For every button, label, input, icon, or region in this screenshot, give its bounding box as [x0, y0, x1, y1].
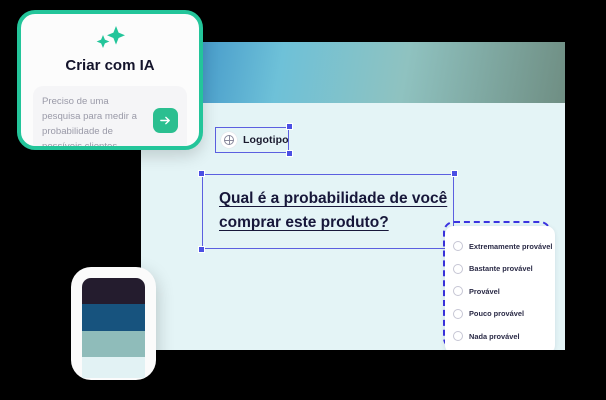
- color-swatch[interactable]: [82, 331, 145, 357]
- ai-prompt-input[interactable]: Preciso de uma pesquisa para medir a pro…: [33, 86, 187, 146]
- resize-handle-bottom-left[interactable]: [198, 246, 205, 253]
- ai-send-button[interactable]: [153, 108, 178, 133]
- resize-handle-top-right[interactable]: [286, 123, 293, 130]
- radio-icon[interactable]: [453, 241, 463, 251]
- resize-handle-top-right[interactable]: [451, 170, 458, 177]
- color-palette-card[interactable]: [71, 267, 156, 380]
- radio-icon[interactable]: [453, 331, 463, 341]
- resize-handle-bottom-right[interactable]: [286, 150, 293, 157]
- question-block[interactable]: Qual é a probabilidade de você comprar e…: [202, 174, 454, 249]
- arrow-right-icon: [159, 114, 172, 127]
- create-with-ai-card: Criar com IA Preciso de uma pesquisa par…: [17, 10, 203, 150]
- list-item[interactable]: Pouco provável: [453, 303, 547, 326]
- radio-icon[interactable]: [453, 264, 463, 274]
- color-swatch[interactable]: [82, 357, 145, 378]
- logo-label: Logotipo: [243, 134, 289, 146]
- logo-placeholder[interactable]: Logotipo: [215, 127, 289, 153]
- ai-prompt-value: Preciso de uma pesquisa para medir a pro…: [42, 94, 147, 146]
- sparkle-icon: [93, 26, 127, 52]
- ai-card-title: Criar com IA: [21, 57, 199, 74]
- option-label: Provável: [469, 287, 500, 296]
- list-item[interactable]: Provável: [453, 280, 547, 303]
- option-label: Extremamente provável: [469, 242, 552, 251]
- radio-icon[interactable]: [453, 309, 463, 319]
- palette-strip: [82, 278, 145, 378]
- add-image-icon: [221, 132, 237, 148]
- question-text: Qual é a probabilidade de você comprar e…: [219, 187, 451, 235]
- list-item[interactable]: Nada provável: [453, 325, 547, 348]
- screenshot-stage: Logotipo Qual é a probabilidade de você …: [0, 0, 606, 400]
- options-list[interactable]: Extremamente provável Bastante provável …: [445, 226, 555, 350]
- list-item[interactable]: Extremamente provável: [453, 235, 547, 258]
- radio-icon[interactable]: [453, 286, 463, 296]
- list-item[interactable]: Bastante provável: [453, 258, 547, 281]
- color-swatch[interactable]: [82, 304, 145, 331]
- option-label: Bastante provável: [469, 264, 533, 273]
- banner-gradient: [141, 42, 565, 103]
- logo-selection-box[interactable]: Logotipo: [215, 127, 289, 153]
- resize-handle-top-left[interactable]: [198, 170, 205, 177]
- option-label: Pouco provável: [469, 309, 524, 318]
- color-swatch[interactable]: [82, 278, 145, 304]
- survey-canvas: Logotipo Qual é a probabilidade de você …: [141, 42, 565, 350]
- option-label: Nada provável: [469, 332, 520, 341]
